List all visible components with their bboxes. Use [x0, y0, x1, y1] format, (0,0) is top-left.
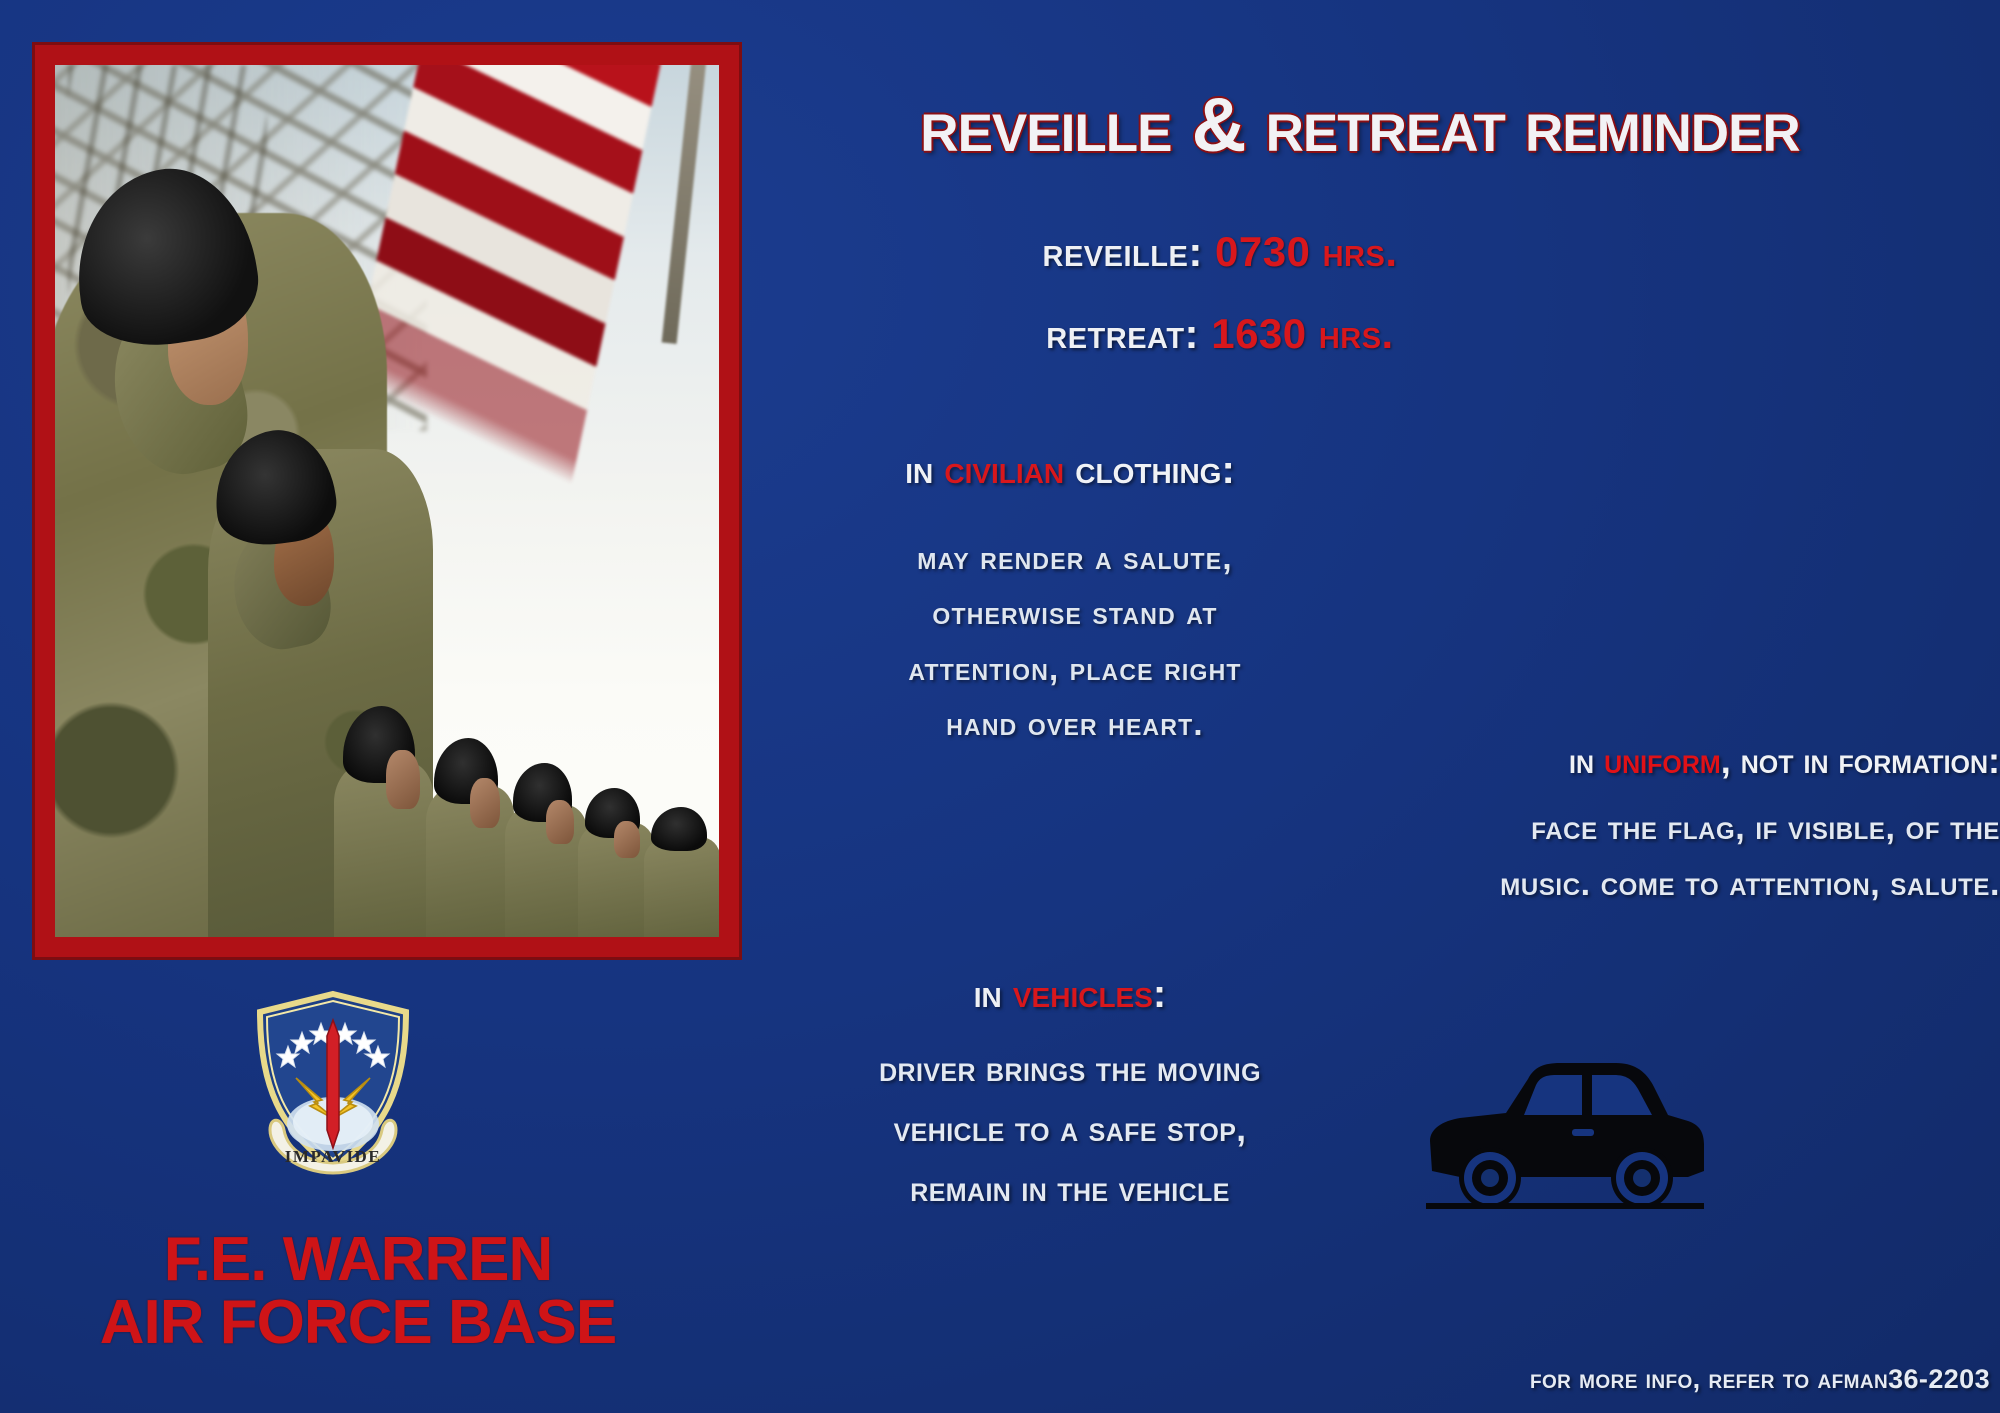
civilian-line: otherwise stand at: [760, 585, 1390, 640]
emblem-scroll-text: IMPAVIDE: [285, 1147, 381, 1166]
reveille-row: Reveille: 0730 hrs.: [750, 228, 1690, 276]
vehicles-line: Vehicle to a safe stop,: [740, 1100, 1400, 1160]
retreat-row: Retreat: 1630 hrs.: [750, 310, 1690, 358]
photo-frame: [32, 42, 742, 960]
footer-note: For more info, refer to AFMAN36-2203: [1530, 1364, 1990, 1395]
uniform-heading-post: , not in formation:: [1721, 740, 2000, 781]
base-name-line1: F.E. WARREN: [48, 1228, 668, 1291]
poster-background: IMPAVIDE F.E. WARREN AIR FORCE BASE Reve…: [0, 0, 2000, 1413]
civilian-heading: In civilian clothing:: [750, 448, 1390, 493]
vehicles-heading: In vehicles:: [740, 972, 1400, 1017]
civilian-instructions: may render a salute, otherwise stand at …: [760, 530, 1390, 752]
uniform-heading-pre: In: [1569, 740, 1604, 781]
uniform-heading: In uniform, not in formation:: [1240, 740, 2000, 782]
vehicles-heading-keyword: vehicles: [1013, 972, 1153, 1016]
photo-airman-row-item: [639, 744, 719, 937]
vehicles-heading-pre: In: [974, 972, 1013, 1016]
uniform-line: Face the flag, if visible, of the: [1220, 800, 2000, 856]
civilian-line: attention, place right: [760, 641, 1390, 696]
civilian-heading-post: clothing:: [1064, 448, 1235, 492]
reveille-value: 0730 hrs.: [1215, 228, 1398, 275]
retreat-value: 1630 hrs.: [1211, 310, 1394, 357]
vehicles-instructions: Driver brings the moving Vehicle to a sa…: [740, 1040, 1400, 1221]
uniform-line: music. Come to attention, salute.: [1220, 856, 2000, 912]
air-force-emblem: IMPAVIDE: [248, 990, 418, 1175]
uniform-instructions: Face the flag, if visible, of the music.…: [1220, 800, 2000, 913]
vehicles-line: remain in the Vehicle: [740, 1160, 1400, 1220]
car-icon: [1420, 1045, 1710, 1230]
civilian-line: may render a salute,: [760, 530, 1390, 585]
civilian-heading-pre: In: [905, 448, 944, 492]
uniform-heading-keyword: uniform: [1604, 740, 1721, 781]
photo-airmen-row: [55, 649, 719, 937]
base-name-line2: AIR FORCE BASE: [48, 1291, 668, 1354]
vehicles-line: Driver brings the moving: [740, 1040, 1400, 1100]
vehicles-heading-post: :: [1153, 972, 1166, 1016]
page-title: Reveille & Retreat Reminder: [750, 82, 1970, 169]
reveille-label: Reveille:: [1043, 228, 1203, 275]
saluting-airmen-photo: [55, 65, 719, 937]
base-name: F.E. WARREN AIR FORCE BASE: [48, 1228, 668, 1354]
content-column: Reveille & Retreat Reminder Reveille: 07…: [740, 0, 2000, 1413]
retreat-label: Retreat:: [1046, 310, 1199, 357]
civilian-heading-keyword: civilian: [944, 448, 1064, 492]
